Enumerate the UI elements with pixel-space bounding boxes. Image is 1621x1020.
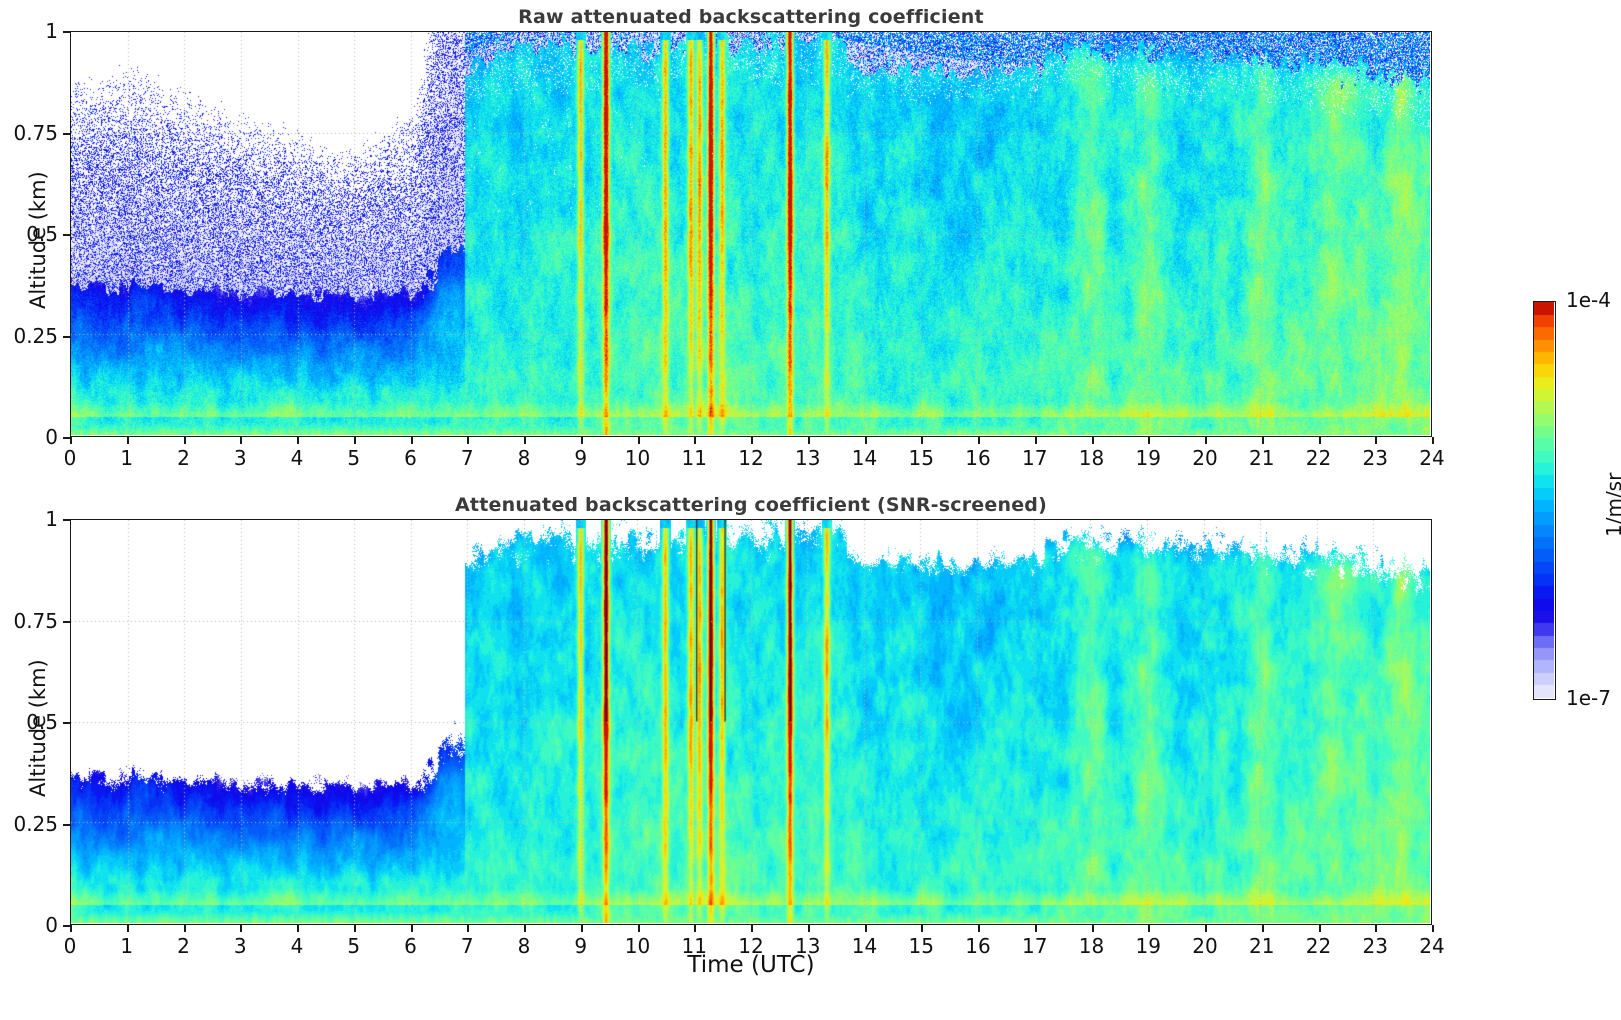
x-tick-label-23: 23 xyxy=(1363,934,1388,958)
panel-title-raw: Raw attenuated backscattering coefficien… xyxy=(70,6,1432,28)
x-tick-mark xyxy=(638,437,640,444)
x-tick-label-0: 0 xyxy=(64,446,77,470)
x-tick-mark xyxy=(978,925,980,932)
x-tick-label-15: 15 xyxy=(909,446,934,470)
y-tick-label-p1-0: 0 xyxy=(0,425,58,449)
colorbar-unit-label: 1/m/sr xyxy=(1602,472,1621,536)
colorbar[interactable] xyxy=(1533,301,1556,700)
heatmap-canvas-raw xyxy=(71,32,1430,435)
x-tick-label-8: 8 xyxy=(518,934,531,958)
x-tick-mark xyxy=(865,437,867,444)
x-tick-mark xyxy=(127,437,129,444)
x-tick-mark xyxy=(1375,437,1377,444)
x-tick-label-0: 0 xyxy=(64,934,77,958)
x-tick-label-18: 18 xyxy=(1079,446,1104,470)
x-tick-label-24: 24 xyxy=(1419,934,1444,958)
x-tick-label-2: 2 xyxy=(177,446,190,470)
x-tick-mark xyxy=(694,925,696,932)
x-tick-mark xyxy=(70,437,72,444)
x-tick-label-4: 4 xyxy=(291,446,304,470)
x-tick-mark xyxy=(240,925,242,932)
x-tick-mark xyxy=(1375,925,1377,932)
x-tick-label-12: 12 xyxy=(738,934,763,958)
x-tick-label-3: 3 xyxy=(234,446,247,470)
x-tick-mark xyxy=(808,437,810,444)
x-tick-mark xyxy=(240,437,242,444)
x-tick-mark xyxy=(467,925,469,932)
figure-root: Raw attenuated backscattering coefficien… xyxy=(0,0,1621,1020)
x-tick-mark xyxy=(1432,437,1434,444)
x-tick-label-13: 13 xyxy=(795,934,820,958)
x-tick-mark xyxy=(354,437,356,444)
x-tick-mark xyxy=(1319,437,1321,444)
x-tick-label-13: 13 xyxy=(795,446,820,470)
x-tick-mark xyxy=(467,437,469,444)
x-tick-label-6: 6 xyxy=(404,446,417,470)
y-tick-mark xyxy=(63,234,70,236)
x-tick-mark xyxy=(1148,925,1150,932)
x-tick-label-17: 17 xyxy=(1022,934,1047,958)
x-tick-mark xyxy=(978,437,980,444)
heatmap-canvas-screened xyxy=(71,520,1430,923)
x-tick-mark xyxy=(1432,925,1434,932)
y-tick-label-p1-0.5: 0.5 xyxy=(0,222,58,246)
x-tick-label-2: 2 xyxy=(177,934,190,958)
colorbar-min-label: 1e-7 xyxy=(1566,686,1611,710)
x-tick-mark xyxy=(581,437,583,444)
x-tick-label-19: 19 xyxy=(1136,934,1161,958)
x-tick-label-6: 6 xyxy=(404,934,417,958)
x-tick-label-16: 16 xyxy=(965,446,990,470)
y-tick-label-p1-1: 1 xyxy=(0,19,58,43)
x-tick-mark xyxy=(921,925,923,932)
x-tick-mark xyxy=(297,925,299,932)
x-tick-label-21: 21 xyxy=(1249,934,1274,958)
x-tick-mark xyxy=(694,437,696,444)
y-tick-label-p2-0.25: 0.25 xyxy=(0,812,58,836)
x-tick-mark xyxy=(127,925,129,932)
x-tick-mark xyxy=(751,925,753,932)
x-tick-label-7: 7 xyxy=(461,934,474,958)
x-tick-label-20: 20 xyxy=(1192,446,1217,470)
y-tick-label-p2-1: 1 xyxy=(0,507,58,531)
x-tick-mark xyxy=(1319,925,1321,932)
x-tick-mark xyxy=(70,925,72,932)
x-tick-mark xyxy=(1148,437,1150,444)
x-tick-label-1: 1 xyxy=(120,934,133,958)
x-tick-label-17: 17 xyxy=(1022,446,1047,470)
x-tick-label-22: 22 xyxy=(1306,934,1331,958)
x-tick-mark xyxy=(1092,437,1094,444)
y-tick-label-p2-0.75: 0.75 xyxy=(0,609,58,633)
x-tick-mark xyxy=(1205,925,1207,932)
x-tick-label-18: 18 xyxy=(1079,934,1104,958)
x-tick-mark xyxy=(751,437,753,444)
y-tick-label-p2-0: 0 xyxy=(0,913,58,937)
x-tick-mark xyxy=(808,925,810,932)
x-tick-label-9: 9 xyxy=(574,934,587,958)
y-tick-mark xyxy=(63,824,70,826)
x-tick-label-14: 14 xyxy=(852,934,877,958)
panel-title-screened: Attenuated backscattering coefficient (S… xyxy=(70,494,1432,516)
x-tick-label-8: 8 xyxy=(518,446,531,470)
x-tick-mark xyxy=(297,437,299,444)
y-tick-mark xyxy=(63,519,70,521)
x-tick-mark xyxy=(1035,925,1037,932)
x-tick-label-12: 12 xyxy=(738,446,763,470)
heatmap-raw-backscatter[interactable] xyxy=(70,31,1432,437)
y-tick-mark xyxy=(63,621,70,623)
x-tick-mark xyxy=(865,925,867,932)
x-tick-label-1: 1 xyxy=(120,446,133,470)
x-tick-mark xyxy=(1092,925,1094,932)
colorbar-max-label: 1e-4 xyxy=(1566,288,1611,312)
x-tick-label-5: 5 xyxy=(347,934,360,958)
x-tick-mark xyxy=(411,925,413,932)
x-tick-mark xyxy=(524,437,526,444)
x-tick-label-7: 7 xyxy=(461,446,474,470)
y-tick-mark xyxy=(63,925,70,927)
x-tick-label-11: 11 xyxy=(682,446,707,470)
y-tick-mark xyxy=(63,133,70,135)
x-tick-mark xyxy=(184,925,186,932)
x-tick-label-16: 16 xyxy=(965,934,990,958)
x-tick-mark xyxy=(1262,437,1264,444)
x-tick-mark xyxy=(184,437,186,444)
x-tick-mark xyxy=(921,437,923,444)
y-tick-mark xyxy=(63,722,70,724)
x-tick-label-14: 14 xyxy=(852,446,877,470)
x-tick-label-4: 4 xyxy=(291,934,304,958)
y-tick-mark xyxy=(63,336,70,338)
y-tick-mark xyxy=(63,437,70,439)
x-tick-label-22: 22 xyxy=(1306,446,1331,470)
x-tick-label-23: 23 xyxy=(1363,446,1388,470)
x-tick-mark xyxy=(1262,925,1264,932)
x-tick-label-10: 10 xyxy=(625,446,650,470)
x-tick-label-19: 19 xyxy=(1136,446,1161,470)
x-tick-mark xyxy=(411,437,413,444)
x-tick-label-11: 11 xyxy=(682,934,707,958)
colorbar-gradient xyxy=(1534,302,1554,698)
x-tick-mark xyxy=(524,925,526,932)
x-tick-label-10: 10 xyxy=(625,934,650,958)
y-tick-mark xyxy=(63,31,70,33)
x-tick-mark xyxy=(638,925,640,932)
x-tick-mark xyxy=(1205,437,1207,444)
x-tick-label-9: 9 xyxy=(574,446,587,470)
x-tick-label-20: 20 xyxy=(1192,934,1217,958)
x-tick-label-3: 3 xyxy=(234,934,247,958)
y-tick-label-p1-0.25: 0.25 xyxy=(0,324,58,348)
y-tick-label-p1-0.75: 0.75 xyxy=(0,121,58,145)
y-tick-label-p2-0.5: 0.5 xyxy=(0,710,58,734)
x-tick-label-21: 21 xyxy=(1249,446,1274,470)
x-tick-mark xyxy=(581,925,583,932)
x-tick-label-5: 5 xyxy=(347,446,360,470)
heatmap-screened-backscatter[interactable] xyxy=(70,519,1432,925)
x-tick-mark xyxy=(354,925,356,932)
x-tick-label-15: 15 xyxy=(909,934,934,958)
x-tick-label-24: 24 xyxy=(1419,446,1444,470)
x-tick-mark xyxy=(1035,437,1037,444)
